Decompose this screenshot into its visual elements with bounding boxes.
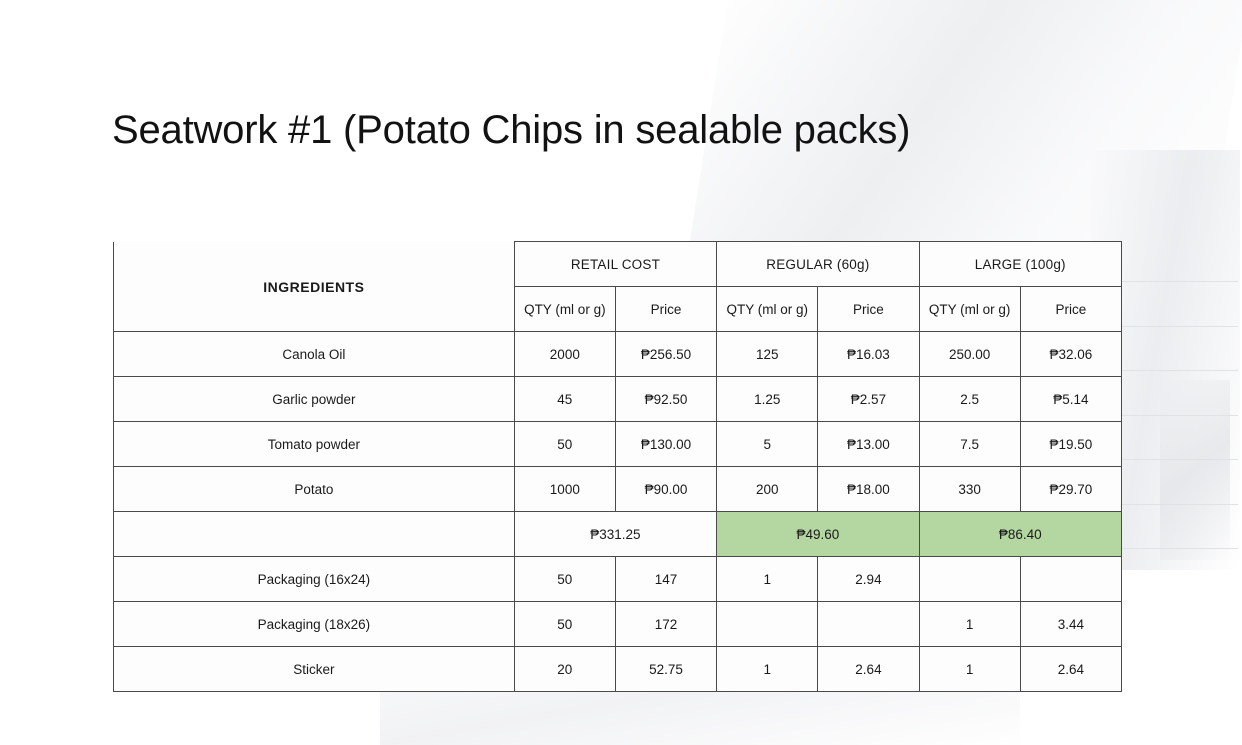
cell-ingredient: Garlic powder bbox=[114, 377, 515, 422]
totals-large-cost: ₱86.40 bbox=[919, 512, 1121, 557]
header-retail-price: Price bbox=[615, 287, 716, 332]
cell-regular-qty: 5 bbox=[717, 422, 818, 467]
header-retail-qty: QTY (ml or g) bbox=[514, 287, 615, 332]
cell-regular-price: ₱2.57 bbox=[818, 377, 919, 422]
cell-large-qty: 330 bbox=[919, 467, 1020, 512]
header-regular-price: Price bbox=[818, 287, 919, 332]
cell-retail-price: 147 bbox=[615, 557, 716, 602]
cell-large-qty: 2.5 bbox=[919, 377, 1020, 422]
table-row: Garlic powder 45 ₱92.50 1.25 ₱2.57 2.5 ₱… bbox=[114, 377, 1122, 422]
cell-regular-price: 2.94 bbox=[818, 557, 919, 602]
slide-canvas: Seatwork #1 (Potato Chips in sealable pa… bbox=[0, 0, 1242, 745]
cell-retail-qty: 50 bbox=[514, 422, 615, 467]
cell-large-price: 2.64 bbox=[1020, 647, 1121, 692]
cell-regular-price bbox=[818, 602, 919, 647]
cell-large-price: 3.44 bbox=[1020, 602, 1121, 647]
cell-large-price: ₱19.50 bbox=[1020, 422, 1121, 467]
totals-regular-cost: ₱49.60 bbox=[717, 512, 919, 557]
cell-ingredient: Tomato powder bbox=[114, 422, 515, 467]
cell-regular-qty: 1 bbox=[717, 557, 818, 602]
header-large-price: Price bbox=[1020, 287, 1121, 332]
cost-breakdown-table: INGREDIENTS RETAIL COST REGULAR (60g) LA… bbox=[113, 241, 1122, 692]
cell-retail-qty: 1000 bbox=[514, 467, 615, 512]
table-row: Potato 1000 ₱90.00 200 ₱18.00 330 ₱29.70 bbox=[114, 467, 1122, 512]
cell-large-price: ₱29.70 bbox=[1020, 467, 1121, 512]
cell-retail-price: ₱92.50 bbox=[615, 377, 716, 422]
cell-regular-qty: 1.25 bbox=[717, 377, 818, 422]
table-row: Tomato powder 50 ₱130.00 5 ₱13.00 7.5 ₱1… bbox=[114, 422, 1122, 467]
cost-table-container: INGREDIENTS RETAIL COST REGULAR (60g) LA… bbox=[113, 241, 1122, 692]
header-group-regular: REGULAR (60g) bbox=[717, 242, 919, 287]
table-row: Sticker 20 52.75 1 2.64 1 2.64 bbox=[114, 647, 1122, 692]
totals-row: ₱331.25 ₱49.60 ₱86.40 bbox=[114, 512, 1122, 557]
cell-ingredient: Canola Oil bbox=[114, 332, 515, 377]
cell-retail-qty: 45 bbox=[514, 377, 615, 422]
cell-regular-qty: 1 bbox=[717, 647, 818, 692]
cell-large-qty: 1 bbox=[919, 647, 1020, 692]
cell-regular-qty: 200 bbox=[717, 467, 818, 512]
table-header: INGREDIENTS RETAIL COST REGULAR (60g) LA… bbox=[114, 242, 1122, 332]
cell-ingredient: Sticker bbox=[114, 647, 515, 692]
header-group-row: INGREDIENTS RETAIL COST REGULAR (60g) LA… bbox=[114, 242, 1122, 287]
cell-retail-qty: 50 bbox=[514, 602, 615, 647]
cell-regular-qty bbox=[717, 602, 818, 647]
cell-regular-price: ₱18.00 bbox=[818, 467, 919, 512]
cell-large-price: ₱5.14 bbox=[1020, 377, 1121, 422]
header-group-large: LARGE (100g) bbox=[919, 242, 1121, 287]
table-body: Canola Oil 2000 ₱256.50 125 ₱16.03 250.0… bbox=[114, 332, 1122, 692]
header-ingredients-cell: INGREDIENTS bbox=[114, 242, 515, 332]
table-row: Packaging (16x24) 50 147 1 2.94 bbox=[114, 557, 1122, 602]
cell-ingredient: Packaging (18x26) bbox=[114, 602, 515, 647]
totals-retail-cost: ₱331.25 bbox=[514, 512, 716, 557]
cell-large-price: ₱32.06 bbox=[1020, 332, 1121, 377]
header-ingredients-label: INGREDIENTS bbox=[263, 279, 364, 295]
table-row: Packaging (18x26) 50 172 1 3.44 bbox=[114, 602, 1122, 647]
totals-label-cell bbox=[114, 512, 515, 557]
table-row: Canola Oil 2000 ₱256.50 125 ₱16.03 250.0… bbox=[114, 332, 1122, 377]
cell-large-qty bbox=[919, 557, 1020, 602]
header-regular-qty: QTY (ml or g) bbox=[717, 287, 818, 332]
header-large-qty: QTY (ml or g) bbox=[919, 287, 1020, 332]
cell-retail-qty: 50 bbox=[514, 557, 615, 602]
cell-retail-price: 172 bbox=[615, 602, 716, 647]
cell-large-price bbox=[1020, 557, 1121, 602]
header-group-retail-cost: RETAIL COST bbox=[514, 242, 716, 287]
cell-retail-price: ₱90.00 bbox=[615, 467, 716, 512]
cell-ingredient: Packaging (16x24) bbox=[114, 557, 515, 602]
cell-retail-price: ₱130.00 bbox=[615, 422, 716, 467]
cell-regular-price: 2.64 bbox=[818, 647, 919, 692]
cell-large-qty: 7.5 bbox=[919, 422, 1020, 467]
cell-retail-qty: 20 bbox=[514, 647, 615, 692]
cell-regular-price: ₱16.03 bbox=[818, 332, 919, 377]
cell-retail-price: ₱256.50 bbox=[615, 332, 716, 377]
cell-regular-qty: 125 bbox=[717, 332, 818, 377]
cell-large-qty: 250.00 bbox=[919, 332, 1020, 377]
cell-retail-price: 52.75 bbox=[615, 647, 716, 692]
cell-large-qty: 1 bbox=[919, 602, 1020, 647]
cell-ingredient: Potato bbox=[114, 467, 515, 512]
cell-retail-qty: 2000 bbox=[514, 332, 615, 377]
cell-regular-price: ₱13.00 bbox=[818, 422, 919, 467]
page-title: Seatwork #1 (Potato Chips in sealable pa… bbox=[112, 108, 910, 153]
